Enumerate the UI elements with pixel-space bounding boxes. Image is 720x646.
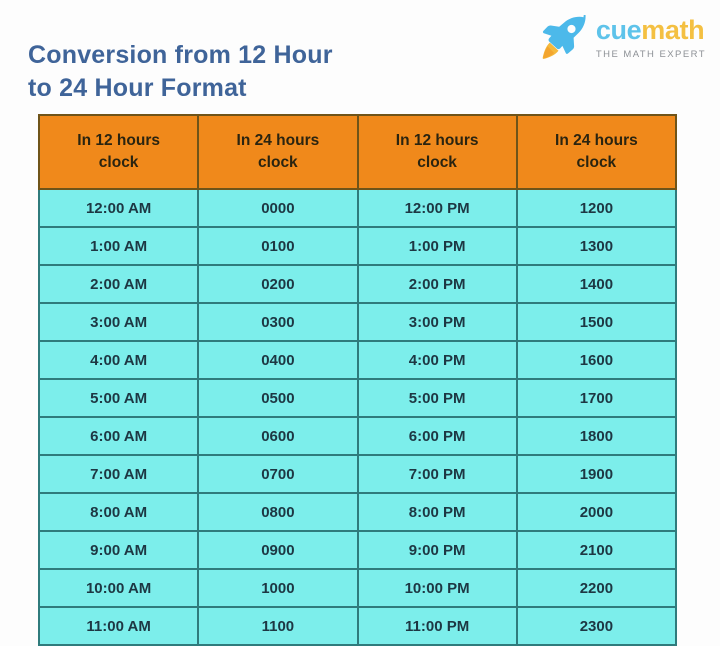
table-cell: 0900 (198, 531, 357, 569)
table-cell: 0400 (198, 341, 357, 379)
table-header-row: In 12 hours clockIn 24 hours clockIn 12 … (39, 115, 676, 189)
table-cell: 0000 (198, 189, 357, 227)
page-title-line-1: Conversion from 12 Hour (28, 39, 458, 72)
table-cell: 3:00 AM (39, 303, 198, 341)
table-body: 12:00 AM000012:00 PM12001:00 AM01001:00 … (39, 189, 676, 645)
table-row: 3:00 AM03003:00 PM1500 (39, 303, 676, 341)
table-row: 2:00 AM02002:00 PM1400 (39, 265, 676, 303)
table-cell: 1:00 AM (39, 227, 198, 265)
table-cell: 4:00 PM (358, 341, 517, 379)
table-row: 10:00 AM100010:00 PM2200 (39, 569, 676, 607)
table-cell: 2000 (517, 493, 676, 531)
cuemath-wordmark-block: cuemath THE MATH EXPERT (596, 15, 706, 60)
table-row: 5:00 AM05005:00 PM1700 (39, 379, 676, 417)
wordmark-math: math (641, 15, 704, 45)
table-cell: 9:00 PM (358, 531, 517, 569)
table-cell: 1000 (198, 569, 357, 607)
table-cell: 7:00 AM (39, 455, 198, 493)
table-cell: 1100 (198, 607, 357, 645)
table-cell: 1500 (517, 303, 676, 341)
table-cell: 1600 (517, 341, 676, 379)
table-row: 12:00 AM000012:00 PM1200 (39, 189, 676, 227)
table-cell: 12:00 AM (39, 189, 198, 227)
table-cell: 2100 (517, 531, 676, 569)
table-cell: 11:00 AM (39, 607, 198, 645)
page-title: Conversion from 12 Hour to 24 Hour Forma… (28, 39, 458, 106)
column-header-1: In 12 hours clock (39, 115, 198, 189)
table-cell: 2:00 AM (39, 265, 198, 303)
table-cell: 0500 (198, 379, 357, 417)
table-cell: 8:00 AM (39, 493, 198, 531)
table-cell: 2300 (517, 607, 676, 645)
brand-tagline: THE MATH EXPERT (596, 49, 706, 60)
table-cell: 1400 (517, 265, 676, 303)
table-cell: 10:00 PM (358, 569, 517, 607)
table-header: In 12 hours clockIn 24 hours clockIn 12 … (39, 115, 676, 189)
table-cell: 5:00 PM (358, 379, 517, 417)
table-cell: 8:00 PM (358, 493, 517, 531)
table-cell: 7:00 PM (358, 455, 517, 493)
table-cell: 6:00 AM (39, 417, 198, 455)
page-header: Conversion from 12 Hour to 24 Hour Forma… (0, 0, 720, 112)
table-cell: 2:00 PM (358, 265, 517, 303)
table-cell: 10:00 AM (39, 569, 198, 607)
table-cell: 11:00 PM (358, 607, 517, 645)
table-cell: 5:00 AM (39, 379, 198, 417)
table-row: 8:00 AM08008:00 PM2000 (39, 493, 676, 531)
table-cell: 0300 (198, 303, 357, 341)
column-header-3: In 12 hours clock (358, 115, 517, 189)
table-row: 1:00 AM01001:00 PM1300 (39, 227, 676, 265)
wordmark-cue: cue (596, 15, 641, 45)
cuemath-wordmark: cuemath (596, 17, 704, 44)
table-cell: 2200 (517, 569, 676, 607)
table-cell: 1:00 PM (358, 227, 517, 265)
table-cell: 0200 (198, 265, 357, 303)
rocket-icon (533, 15, 587, 59)
table-cell: 9:00 AM (39, 531, 198, 569)
table-row: 11:00 AM110011:00 PM2300 (39, 607, 676, 645)
table-cell: 0600 (198, 417, 357, 455)
time-conversion-table: In 12 hours clockIn 24 hours clockIn 12 … (38, 114, 677, 646)
table-row: 9:00 AM09009:00 PM2100 (39, 531, 676, 569)
table-cell: 0800 (198, 493, 357, 531)
table-cell: 12:00 PM (358, 189, 517, 227)
table-cell: 1300 (517, 227, 676, 265)
table-cell: 0700 (198, 455, 357, 493)
table-row: 6:00 AM06006:00 PM1800 (39, 417, 676, 455)
table-cell: 6:00 PM (358, 417, 517, 455)
table-row: 4:00 AM04004:00 PM1600 (39, 341, 676, 379)
table-cell: 0100 (198, 227, 357, 265)
table-cell: 3:00 PM (358, 303, 517, 341)
page-title-line-2: to 24 Hour Format (28, 72, 458, 105)
table-row: 7:00 AM07007:00 PM1900 (39, 455, 676, 493)
table-cell: 1900 (517, 455, 676, 493)
column-header-2: In 24 hours clock (198, 115, 357, 189)
table-cell: 1200 (517, 189, 676, 227)
table-cell: 1700 (517, 379, 676, 417)
cuemath-logo: cuemath THE MATH EXPERT (533, 10, 706, 64)
table-cell: 4:00 AM (39, 341, 198, 379)
table-cell: 1800 (517, 417, 676, 455)
column-header-4: In 24 hours clock (517, 115, 676, 189)
